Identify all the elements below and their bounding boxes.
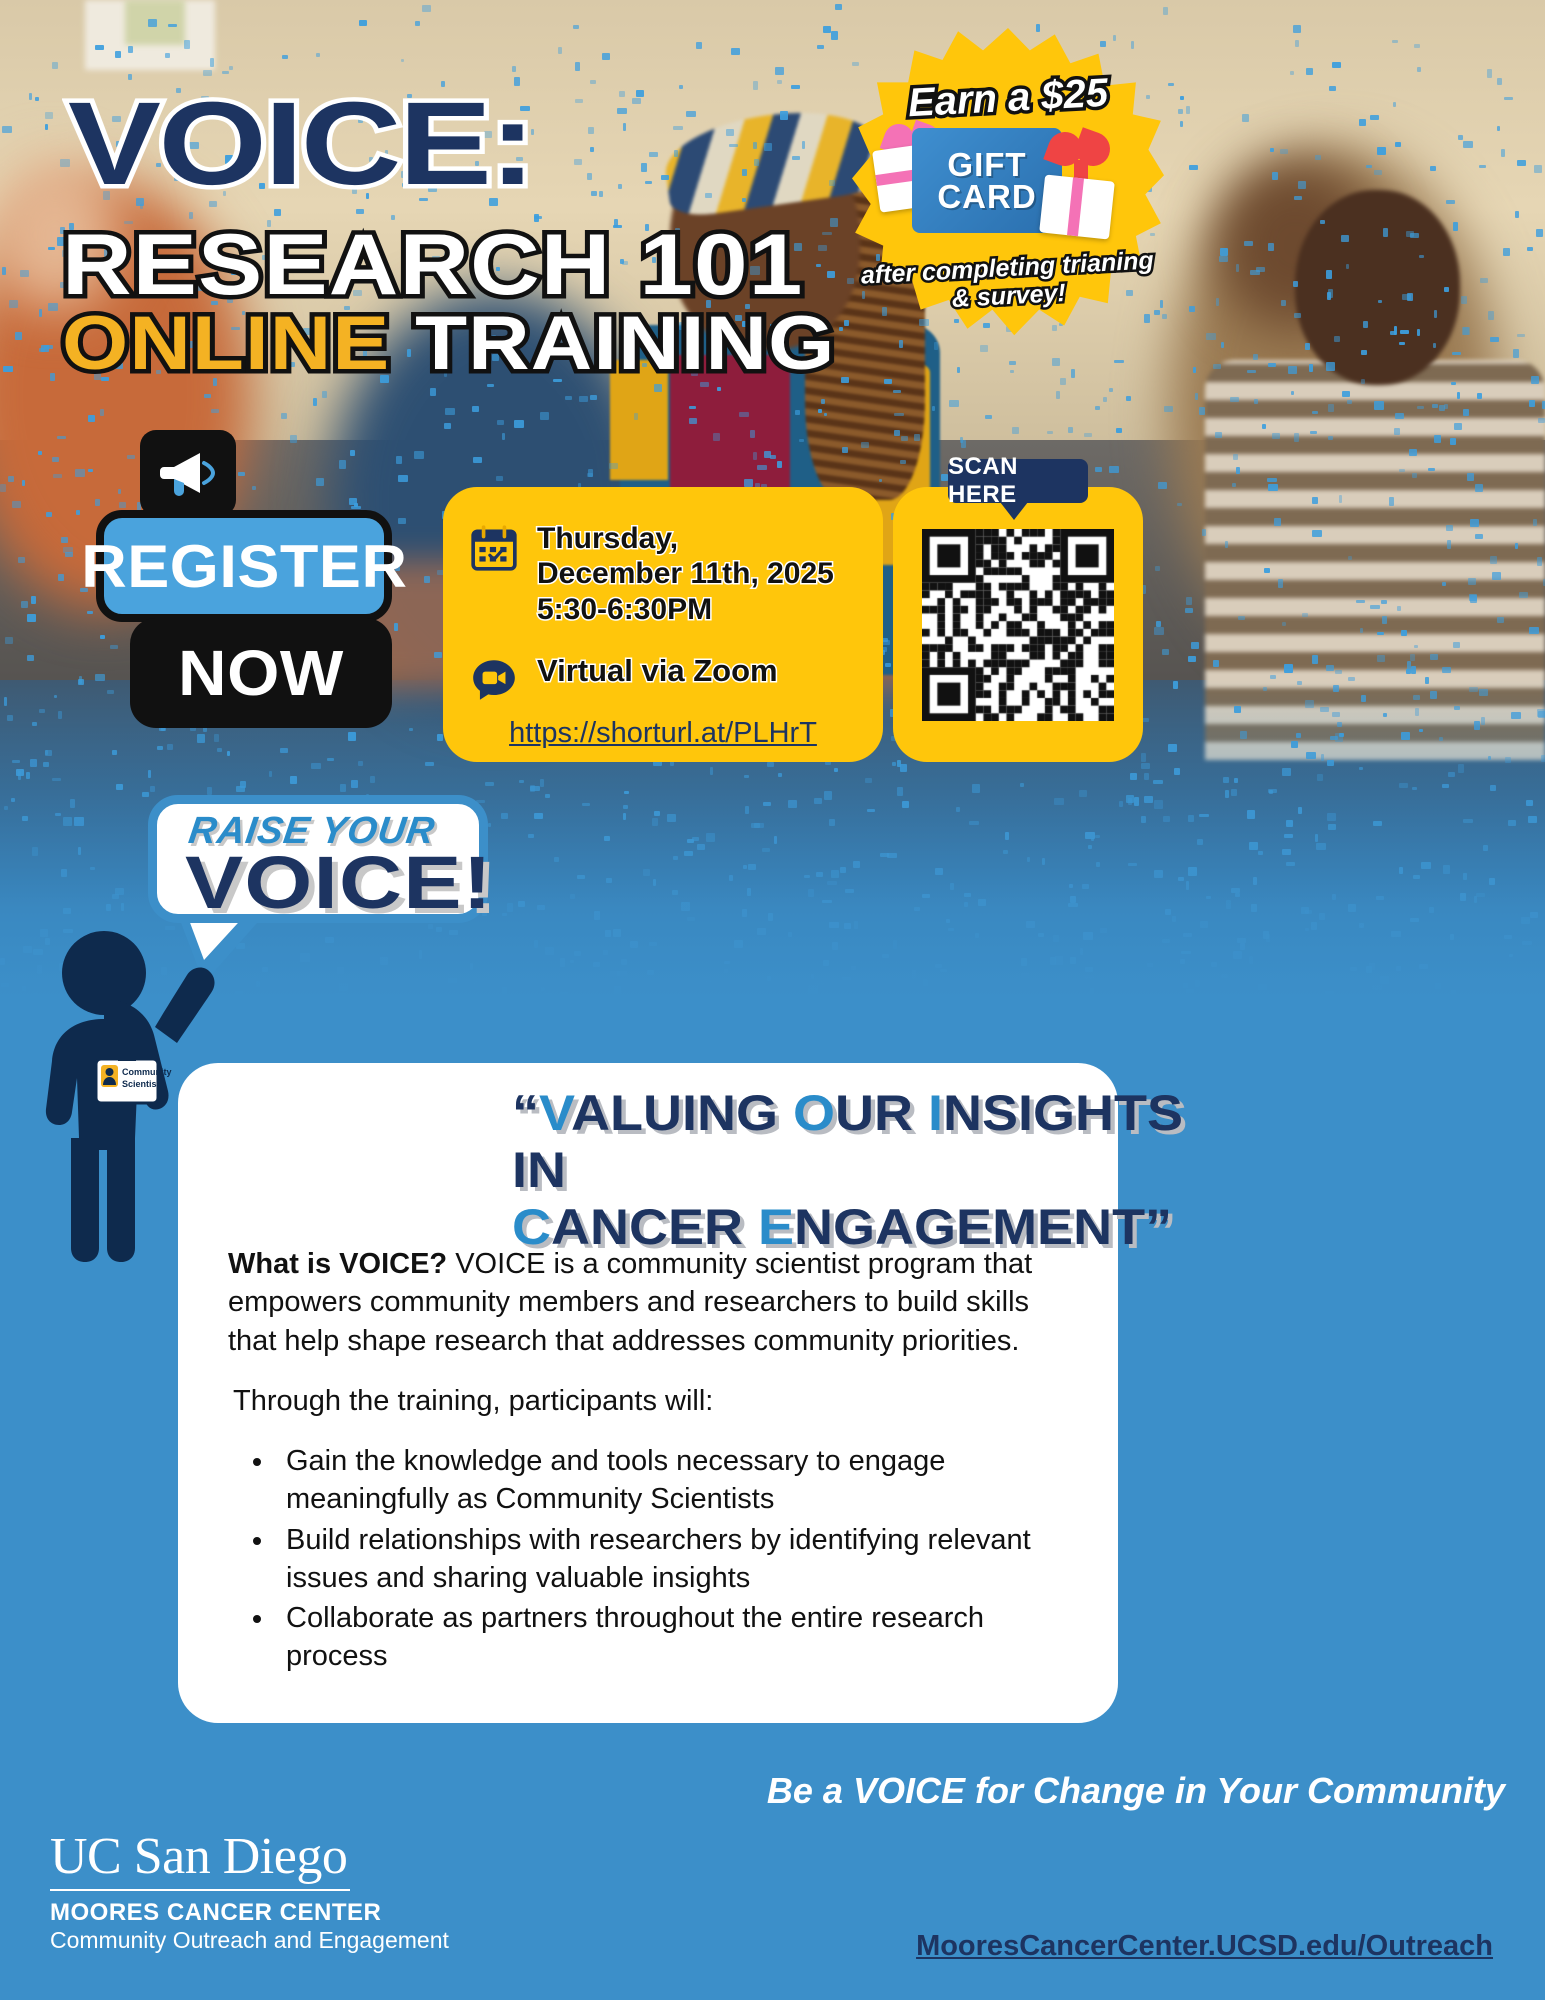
qr-code-icon[interactable]: [922, 529, 1114, 721]
event-date-row: Thursday, December 11th, 2025 5:30-6:30P…: [469, 521, 857, 627]
what-is-voice-paragraph: What is VOICE? VOICE is a community scie…: [228, 1245, 1078, 1360]
acronym-letter-highlight: O: [793, 1085, 835, 1141]
acronym-headline: “VALUING OUR INSIGHTS IN CANCER ENGAGEME…: [512, 1085, 1203, 1256]
list-item: Collaborate as partners throughout the e…: [276, 1599, 1078, 1676]
title-online-word: ONLINE: [62, 301, 390, 386]
qr-code-card[interactable]: [893, 487, 1143, 762]
gift-card-line1: GIFT: [947, 149, 1026, 180]
event-time: 5:30-6:30PM: [537, 592, 834, 627]
raise-your-voice-bubble: RAISE YOUR VOICE!: [148, 795, 488, 923]
red-bow-icon: [1048, 132, 1110, 172]
scan-here-badge: SCAN HERE: [948, 459, 1088, 503]
video-camera-icon: [469, 655, 519, 705]
register-button[interactable]: REGISTER: [96, 510, 392, 622]
acronym-line-1: “VALUING OUR INSIGHTS IN: [512, 1085, 1203, 1199]
now-button[interactable]: NOW: [130, 618, 392, 728]
gift-card-line2: CARD: [937, 181, 1036, 212]
info-body: What is VOICE? VOICE is a community scie…: [228, 1245, 1078, 1678]
acronym-text: UR: [835, 1085, 928, 1141]
logo-divider: [50, 1889, 350, 1891]
footer-tagline: Be a VOICE for Change in Your Community: [0, 1770, 1505, 1812]
incentive-badge: GIFT CARD Earn a $25 after completing tr…: [852, 28, 1164, 348]
logo-university-name: UC San Diego: [50, 1830, 470, 1885]
logo-center-name: MOORES CANCER CENTER: [50, 1899, 470, 1927]
page-title-online-training: ONLINE TRAINING: [62, 306, 835, 382]
megaphone-icon: [140, 430, 236, 516]
training-intro: Through the training, participants will:: [233, 1382, 1078, 1420]
event-location-row: Virtual via Zoom: [469, 653, 857, 705]
event-details-card: Thursday, December 11th, 2025 5:30-6:30P…: [443, 487, 883, 762]
event-date-full: December 11th, 2025: [537, 556, 834, 591]
title-training-word: TRAINING: [390, 301, 835, 386]
photo-subject-man: [1265, 190, 1545, 710]
event-date-weekday: Thursday,: [537, 521, 834, 556]
page-title-voice: VOICE:: [68, 88, 534, 201]
calendar-icon: [469, 523, 519, 573]
gift-card-icon: GIFT CARD: [912, 128, 1062, 233]
event-location: Virtual via Zoom: [537, 653, 778, 689]
badge-line1-text: Community: [122, 1067, 172, 1077]
acronym-text: ALUING: [571, 1085, 793, 1141]
event-datetime: Thursday, December 11th, 2025 5:30-6:30P…: [537, 521, 834, 627]
page-title-research101: RESEARCH 101: [62, 222, 803, 308]
badge-line2-text: Scientist: [122, 1079, 160, 1089]
bubble-big-text: VOICE!: [185, 840, 493, 925]
now-button-label: NOW: [178, 636, 344, 710]
acronym-letter-highlight: I: [928, 1085, 943, 1141]
scan-here-label: SCAN HERE: [948, 453, 1088, 509]
acronym-letter-highlight: V: [539, 1085, 571, 1141]
list-item: Build relationships with researchers by …: [276, 1521, 1078, 1598]
register-button-label: REGISTER: [81, 532, 407, 601]
gift-box-red-icon: [1039, 175, 1115, 240]
training-bullet-list: Gain the knowledge and tools necessary t…: [276, 1442, 1078, 1676]
what-is-voice-label: What is VOICE?: [228, 1248, 447, 1280]
registration-link[interactable]: https://shorturl.at/PLHrT: [469, 717, 857, 750]
list-item: Gain the knowledge and tools necessary t…: [276, 1442, 1078, 1519]
footer-weblink[interactable]: MooresCancerCenter.UCSD.edu/Outreach: [0, 1930, 1493, 1963]
